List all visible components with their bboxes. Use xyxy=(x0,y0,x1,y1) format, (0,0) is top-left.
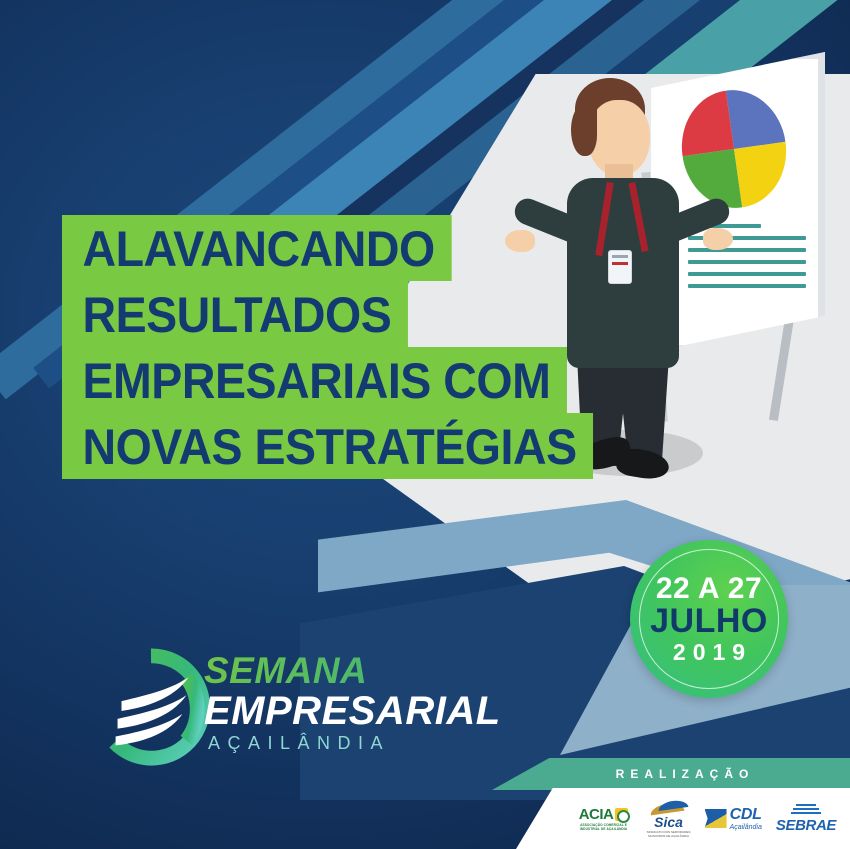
acia-logo-icon: ACIA xyxy=(579,806,629,823)
poster-canvas: ALAVANCANDO RESULTADOS EMPRESARIAIS COM … xyxy=(0,0,850,849)
sica-swoosh-icon xyxy=(650,800,688,815)
headline-line-2: RESULTADOS xyxy=(62,281,408,347)
sica-subtitle: SINDICATO DOS SERVIDORES MUNICIPAIS DE A… xyxy=(647,830,691,838)
presenter-hair-side xyxy=(571,104,597,156)
headline-line-1: ALAVANCANDO xyxy=(62,215,451,281)
headline-line-4: NOVAS ESTRATÉGIAS xyxy=(62,413,593,479)
headline-line-3: EMPRESARIAIS COM xyxy=(62,347,567,413)
sponsor-acia: ACIA ASSOCIAÇÃO COMERCIAL E INDUSTRIAL D… xyxy=(575,806,633,832)
acia-name: ACIA xyxy=(579,806,614,823)
semana-empresarial-mark-icon xyxy=(92,648,210,770)
headline: ALAVANCANDO RESULTADOS EMPRESARIAIS COM … xyxy=(62,215,633,479)
sponsor-sebrae: SEBRAE xyxy=(776,804,836,834)
logo-line-semana: SEMANA xyxy=(204,652,501,690)
cdl-name: CDL xyxy=(730,806,762,823)
date-badge: 22 A 27 JULHO 2019 xyxy=(630,540,788,698)
logo-line-acailandia: AÇAILÂNDIA xyxy=(204,732,501,754)
date-year: 2019 xyxy=(666,639,752,665)
sica-name: Sica xyxy=(654,815,683,830)
acia-sun-icon xyxy=(615,808,628,821)
sponsor-cdl: CDL Açailândia xyxy=(705,806,762,831)
acia-subtitle: ASSOCIAÇÃO COMERCIAL E INDUSTRIAL DE AÇA… xyxy=(575,823,633,832)
cdl-mark-icon xyxy=(705,809,727,828)
event-logo-text: SEMANA EMPRESARIAL AÇAILÂNDIA xyxy=(204,652,501,754)
sebrae-name: SEBRAE xyxy=(776,817,836,834)
presenter-hand-right xyxy=(703,228,733,250)
event-logo: SEMANA EMPRESARIAL AÇAILÂNDIA xyxy=(92,646,452,776)
realizacao-band: REALIZAÇÃO xyxy=(492,758,850,790)
sponsor-panel: ACIA ASSOCIAÇÃO COMERCIAL E INDUSTRIAL D… xyxy=(516,788,850,849)
realizacao-label: REALIZAÇÃO xyxy=(588,767,755,781)
date-month: JULHO xyxy=(650,604,768,639)
sebrae-bars-icon xyxy=(791,804,821,817)
cdl-subtitle: Açailândia xyxy=(730,824,762,831)
sponsor-sica: Sica SINDICATO DOS SERVIDORES MUNICIPAIS… xyxy=(647,800,691,838)
cdl-logo-icon: CDL Açailândia xyxy=(705,806,762,831)
logo-line-empresarial: EMPRESARIAL xyxy=(204,690,501,732)
date-days: 22 A 27 xyxy=(656,574,762,604)
